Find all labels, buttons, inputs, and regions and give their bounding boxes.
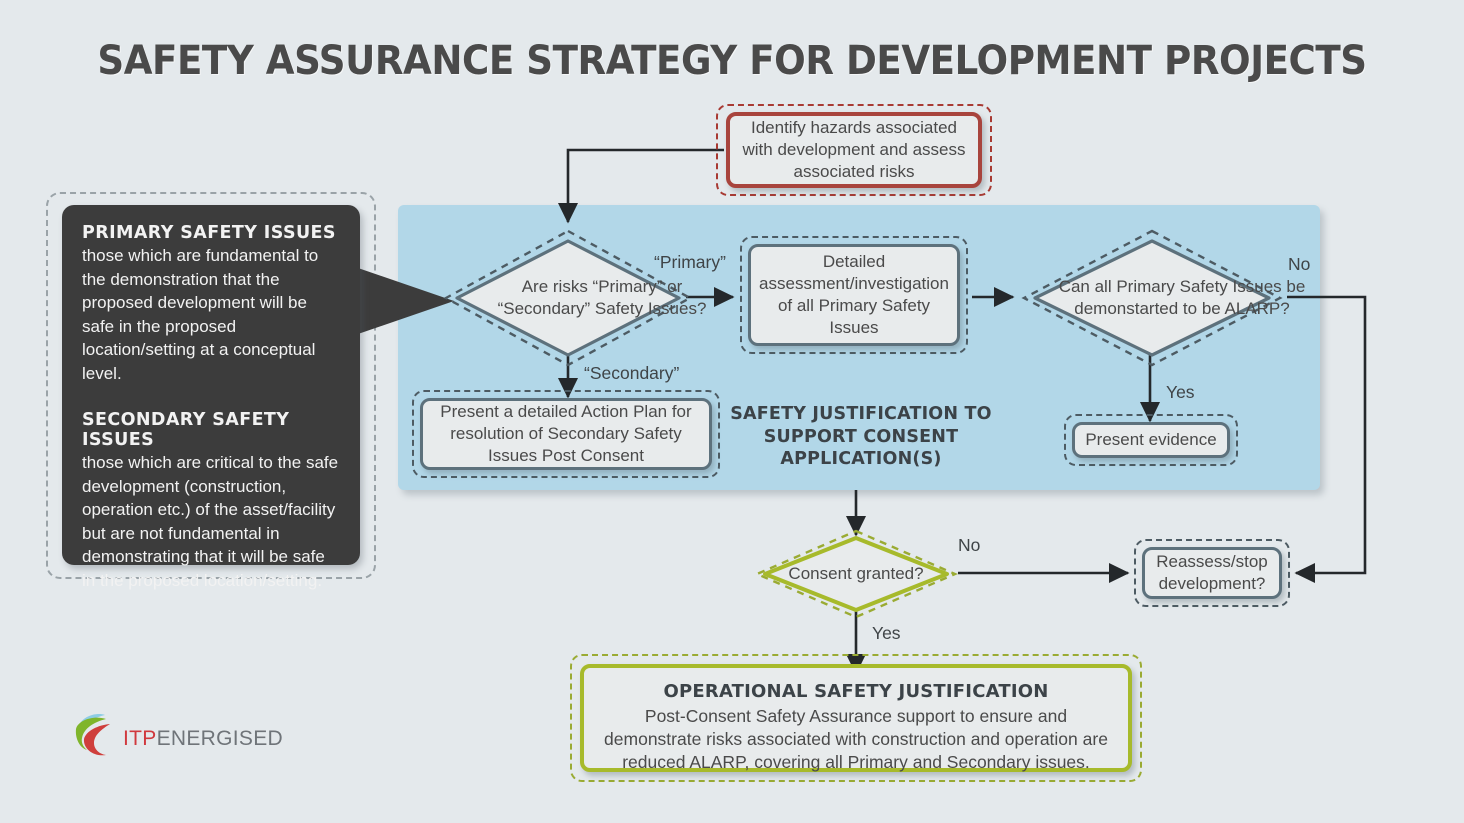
panel-heading: SAFETY JUSTIFICATION TO SUPPORT CONSENT … [716,403,1006,471]
present-evidence-label: Present evidence [1085,429,1216,451]
action-plan-box[interactable]: Present a detailed Action Plan for resol… [420,398,712,470]
present-evidence-box[interactable]: Present evidence [1072,422,1230,458]
primary-safety-issues-body: those which are fundamental to the demon… [82,244,340,385]
detailed-assessment-box[interactable]: Detailed assessment/investigation of all… [748,244,960,346]
operational-justification-box[interactable]: OPERATIONAL SAFETY JUSTIFICATION Post-Co… [580,664,1132,772]
secondary-safety-issues-body: those which are critical to the safe dev… [82,451,340,592]
consent-decision-label: Consent granted? [752,528,960,620]
reassess-stop-box[interactable]: Reassess/stop development? [1142,547,1282,599]
detailed-assessment-label: Detailed assessment/investigation of all… [757,251,951,339]
definitions-spacer [82,385,340,410]
alarp-decision-label: Can all Primary Safety Issues be demonst… [1018,226,1346,370]
edge-label-consent-yes: Yes [872,623,901,644]
alarp-decision[interactable]: Can all Primary Safety Issues be demonst… [1018,226,1286,370]
logo-text-energised: ENERGISED [157,727,283,750]
itp-energised-mark [72,712,120,758]
operational-justification-title: OPERATIONAL SAFETY JUSTIFICATION [598,681,1114,703]
definitions-panel: PRIMARY SAFETY ISSUES those which are fu… [62,205,360,565]
identify-hazards-box[interactable]: Identify hazards associated with develop… [726,112,982,188]
edge-label-consent-no: No [958,535,980,556]
primary-safety-issues-heading: PRIMARY SAFETY ISSUES [82,223,340,243]
risk-type-decision[interactable]: Are risks “Primary” or “Secondary” Safet… [440,225,696,371]
company-logo: ITPENERGISED [72,712,332,768]
edge-label-alarp-no: No [1288,254,1310,275]
secondary-safety-issues-heading: SECONDARY SAFETY ISSUES [82,410,340,450]
risk-type-decision-label: Are risks “Primary” or “Secondary” Safet… [440,225,764,371]
identify-hazards-label: Identify hazards associated with develop… [740,117,968,183]
consent-decision[interactable]: Consent granted? [752,528,960,620]
reassess-stop-label: Reassess/stop development? [1151,551,1273,595]
operational-justification-body: Post-Consent Safety Assurance support to… [598,705,1114,774]
page-title: SAFETY ASSURANCE STRATEGY FOR DEVELOPMEN… [51,38,1413,84]
logo-text-itp: ITP [123,727,157,750]
action-plan-label: Present a detailed Action Plan for resol… [431,401,701,467]
edge-label-primary: “Primary” [654,252,726,273]
edge-label-secondary: “Secondary” [584,363,679,384]
edge-label-alarp-yes: Yes [1166,382,1195,403]
logo-wordmark: ITPENERGISED [123,727,283,751]
